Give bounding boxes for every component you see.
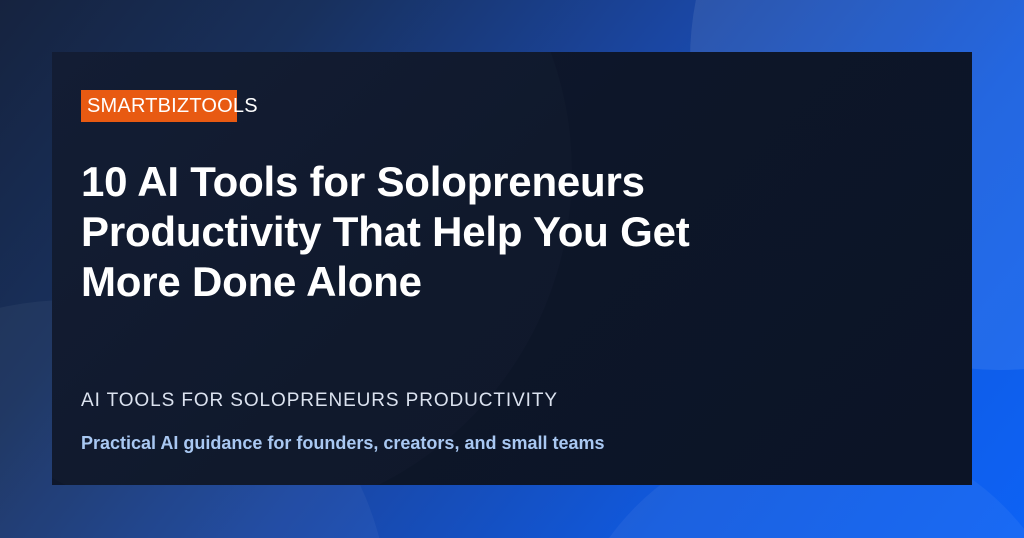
page-title: 10 AI Tools for Solopreneurs Productivit… (81, 157, 781, 307)
card-content: SMARTBIZTOOLS 10 AI Tools for Solopreneu… (81, 52, 972, 485)
category-kicker: AI TOOLS FOR SOLOPRENEURS PRODUCTIVITY (81, 389, 558, 413)
content-card: SMARTBIZTOOLS 10 AI Tools for Solopreneu… (52, 52, 972, 485)
brand-badge-label: SMARTBIZTOOLS (81, 90, 264, 122)
banner-canvas: SMARTBIZTOOLS 10 AI Tools for Solopreneu… (0, 0, 1024, 538)
tagline-text: Practical AI guidance for founders, crea… (81, 431, 605, 455)
brand-badge: SMARTBIZTOOLS (81, 90, 264, 122)
